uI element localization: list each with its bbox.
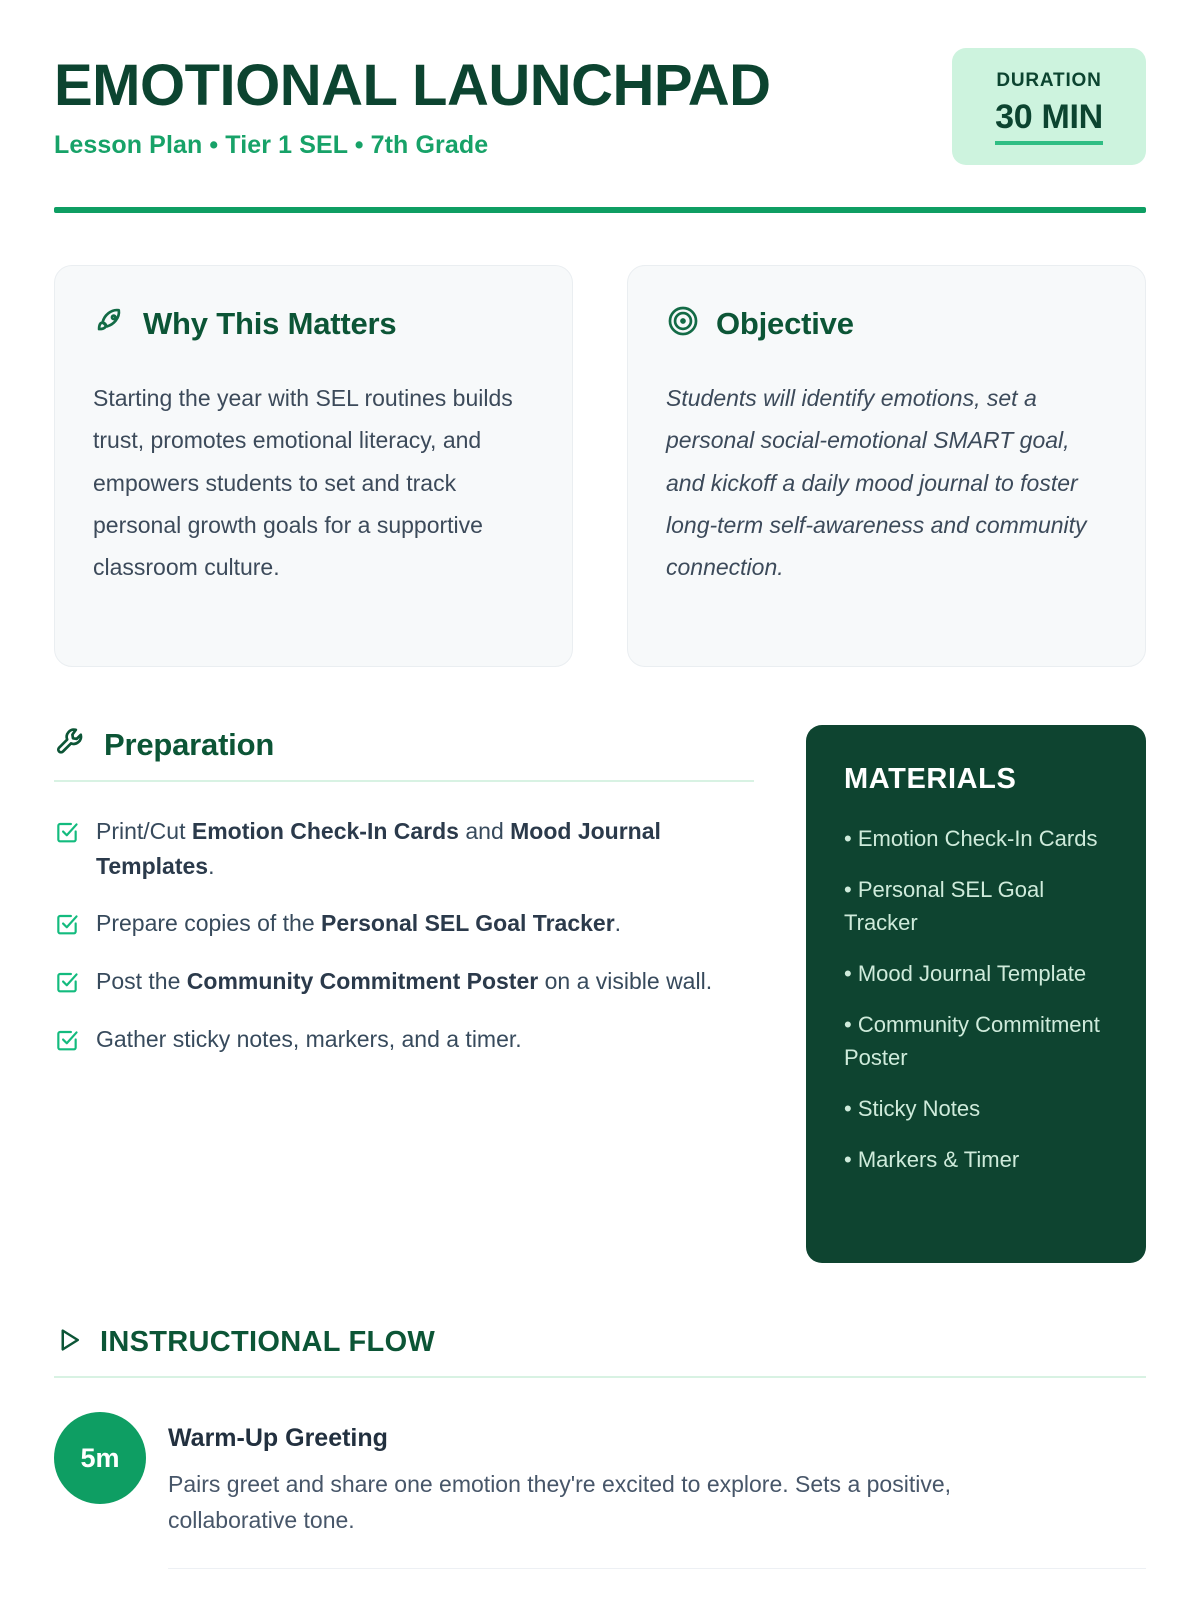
checkbox-checked-icon[interactable]: [54, 819, 80, 850]
list-item: Gather sticky notes, markers, and a time…: [54, 1022, 754, 1058]
list-item: Prepare copies of the Personal SEL Goal …: [54, 906, 754, 942]
page-title: EMOTIONAL LAUNCHPAD: [54, 56, 771, 117]
flow-step: 5m Warm-Up Greeting Pairs greet and shar…: [54, 1412, 1146, 1538]
card-header: Objective: [666, 304, 1107, 343]
step-description: Pairs greet and share one emotion they'r…: [168, 1467, 1068, 1538]
section-header: INSTRUCTIONAL FLOW: [54, 1325, 1146, 1360]
header-divider: [54, 207, 1146, 213]
instructional-flow-divider: [54, 1376, 1146, 1378]
card-why-this-matters: Why This Matters Starting the year with …: [54, 265, 573, 667]
list-item: • Markers & Timer: [844, 1143, 1112, 1176]
instructional-flow-title: INSTRUCTIONAL FLOW: [100, 1326, 435, 1359]
wrench-icon: [54, 725, 88, 764]
card-header: Why This Matters: [93, 304, 534, 343]
preparation-materials-row: Preparation Print/Cut Emotion Check-In C…: [54, 725, 1146, 1263]
preparation-list: Print/Cut Emotion Check-In Cards and Moo…: [54, 814, 754, 1058]
preparation-title: Preparation: [104, 727, 274, 763]
list-item: • Emotion Check-In Cards: [844, 822, 1112, 855]
list-item-text: Post the Community Commitment Poster on …: [96, 964, 712, 999]
list-item: • Personal SEL Goal Tracker: [844, 873, 1112, 939]
card-body: Students will identify emotions, set a p…: [666, 377, 1107, 589]
list-item: • Mood Journal Template: [844, 957, 1112, 990]
materials-panel: MATERIALS • Emotion Check-In Cards • Per…: [806, 725, 1146, 1263]
list-item: • Sticky Notes: [844, 1092, 1112, 1125]
list-item: • Community Commitment Poster: [844, 1008, 1112, 1074]
header-title-block: EMOTIONAL LAUNCHPAD Lesson Plan • Tier 1…: [54, 48, 771, 160]
checkbox-checked-icon[interactable]: [54, 1027, 80, 1058]
card-title: Why This Matters: [143, 306, 396, 342]
step-time-badge: 5m: [54, 1412, 146, 1504]
duration-label: DURATION: [978, 70, 1120, 92]
list-item-text: Print/Cut Emotion Check-In Cards and Moo…: [96, 814, 754, 884]
duration-badge: DURATION 30 MIN: [952, 48, 1146, 165]
duration-value: 30 MIN: [995, 98, 1103, 145]
info-cards: Why This Matters Starting the year with …: [54, 265, 1146, 667]
step-divider: [168, 1568, 1146, 1569]
lesson-plan-page: EMOTIONAL LAUNCHPAD Lesson Plan • Tier 1…: [0, 0, 1200, 1600]
card-body: Starting the year with SEL routines buil…: [93, 377, 534, 589]
list-item-text: Gather sticky notes, markers, and a time…: [96, 1022, 522, 1057]
card-objective: Objective Students will identify emotion…: [627, 265, 1146, 667]
list-item: Post the Community Commitment Poster on …: [54, 964, 754, 1000]
rocket-icon: [93, 304, 127, 343]
target-icon: [666, 304, 700, 343]
checkbox-checked-icon[interactable]: [54, 911, 80, 942]
play-icon: [54, 1325, 84, 1360]
checkbox-checked-icon[interactable]: [54, 969, 80, 1000]
instructional-flow-section: INSTRUCTIONAL FLOW 5m Warm-Up Greeting P…: [54, 1325, 1146, 1569]
page-subtitle: Lesson Plan • Tier 1 SEL • 7th Grade: [54, 131, 771, 160]
preparation-section: Preparation Print/Cut Emotion Check-In C…: [54, 725, 754, 1080]
step-content: Warm-Up Greeting Pairs greet and share o…: [168, 1412, 1146, 1538]
section-header: Preparation: [54, 725, 754, 764]
list-item: Print/Cut Emotion Check-In Cards and Moo…: [54, 814, 754, 884]
materials-title: MATERIALS: [844, 763, 1112, 796]
step-title: Warm-Up Greeting: [168, 1424, 1146, 1453]
page-header: EMOTIONAL LAUNCHPAD Lesson Plan • Tier 1…: [54, 48, 1146, 165]
list-item-text: Prepare copies of the Personal SEL Goal …: [96, 906, 621, 941]
preparation-divider: [54, 780, 754, 782]
card-title: Objective: [716, 306, 854, 342]
